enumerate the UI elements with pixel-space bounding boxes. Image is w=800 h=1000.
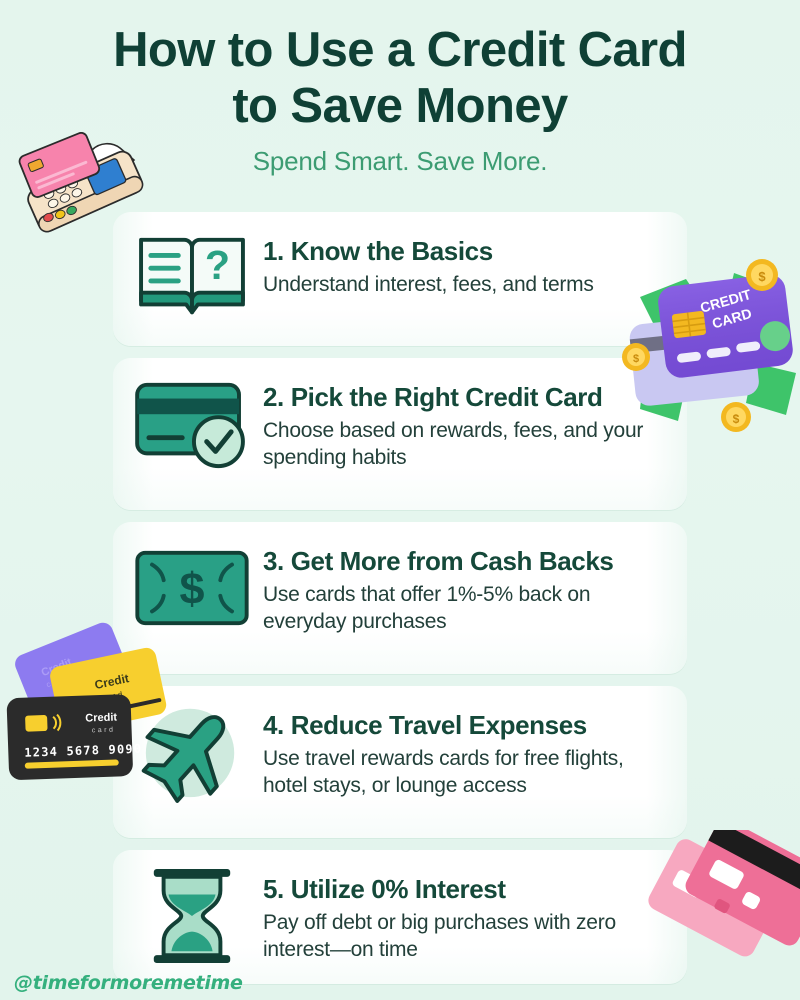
step-description-5: Pay off debt or big purchases with zero … [263, 909, 671, 963]
steps-list: ? 1. Know the Basics Understand interest… [113, 212, 687, 996]
pink-credit-cards-illustration [641, 830, 800, 1000]
svg-text:Credit: Credit [85, 711, 118, 724]
page-title: How to Use a Credit Card to Save Money [0, 22, 800, 134]
step-body-3: 3. Get More from Cash Backs Use cards th… [257, 536, 671, 635]
step-title-3: 3. Get More from Cash Backs [263, 546, 671, 577]
step-title-1: 1. Know the Basics [263, 236, 671, 267]
step-card-4[interactable]: 4. Reduce Travel Expenses Use travel rew… [113, 686, 687, 838]
step-body-5: 5. Utilize 0% Interest Pay off debt or b… [257, 864, 671, 963]
hourglass-icon [127, 864, 257, 968]
svg-text:?: ? [205, 242, 230, 288]
step-body-1: 1. Know the Basics Understand interest, … [257, 226, 671, 298]
step-body-2: 2. Pick the Right Credit Card Choose bas… [257, 372, 671, 471]
svg-text:$: $ [758, 269, 766, 284]
step-card-2[interactable]: 2. Pick the Right Credit Card Choose bas… [113, 358, 687, 510]
credit-card-check-icon [127, 372, 257, 476]
step-description-4: Use travel rewards cards for free flight… [263, 745, 671, 799]
step-card-1[interactable]: ? 1. Know the Basics Understand interest… [113, 212, 687, 346]
step-description-1: Understand interest, fees, and terms [263, 271, 671, 298]
step-description-2: Choose based on rewards, fees, and your … [263, 417, 671, 471]
infographic-page: How to Use a Credit Card to Save Money S… [0, 0, 800, 1000]
pos-terminal-illustration [8, 132, 160, 242]
step-body-4: 4. Reduce Travel Expenses Use travel rew… [257, 700, 671, 799]
svg-text:$: $ [633, 353, 639, 365]
watermark-handle: @timeformoremetime [14, 972, 243, 994]
step-description-3: Use cards that offer 1%-5% back on every… [263, 581, 671, 635]
step-title-2: 2. Pick the Right Credit Card [263, 382, 671, 413]
step-title-5: 5. Utilize 0% Interest [263, 874, 671, 905]
credit-card-stack-illustration: Credit card Credit card Credit card 1234… [0, 622, 174, 792]
purple-credit-card-illustration: CREDIT CARD $ $ $ [614, 245, 800, 435]
step-card-5[interactable]: 5. Utilize 0% Interest Pay off debt or b… [113, 850, 687, 984]
svg-text:$: $ [733, 412, 740, 426]
svg-text:$: $ [180, 563, 205, 614]
svg-text:card: card [92, 727, 116, 735]
step-title-4: 4. Reduce Travel Expenses [263, 710, 671, 741]
step-card-3[interactable]: $ 3. Get More from Cash Backs Use cards … [113, 522, 687, 674]
